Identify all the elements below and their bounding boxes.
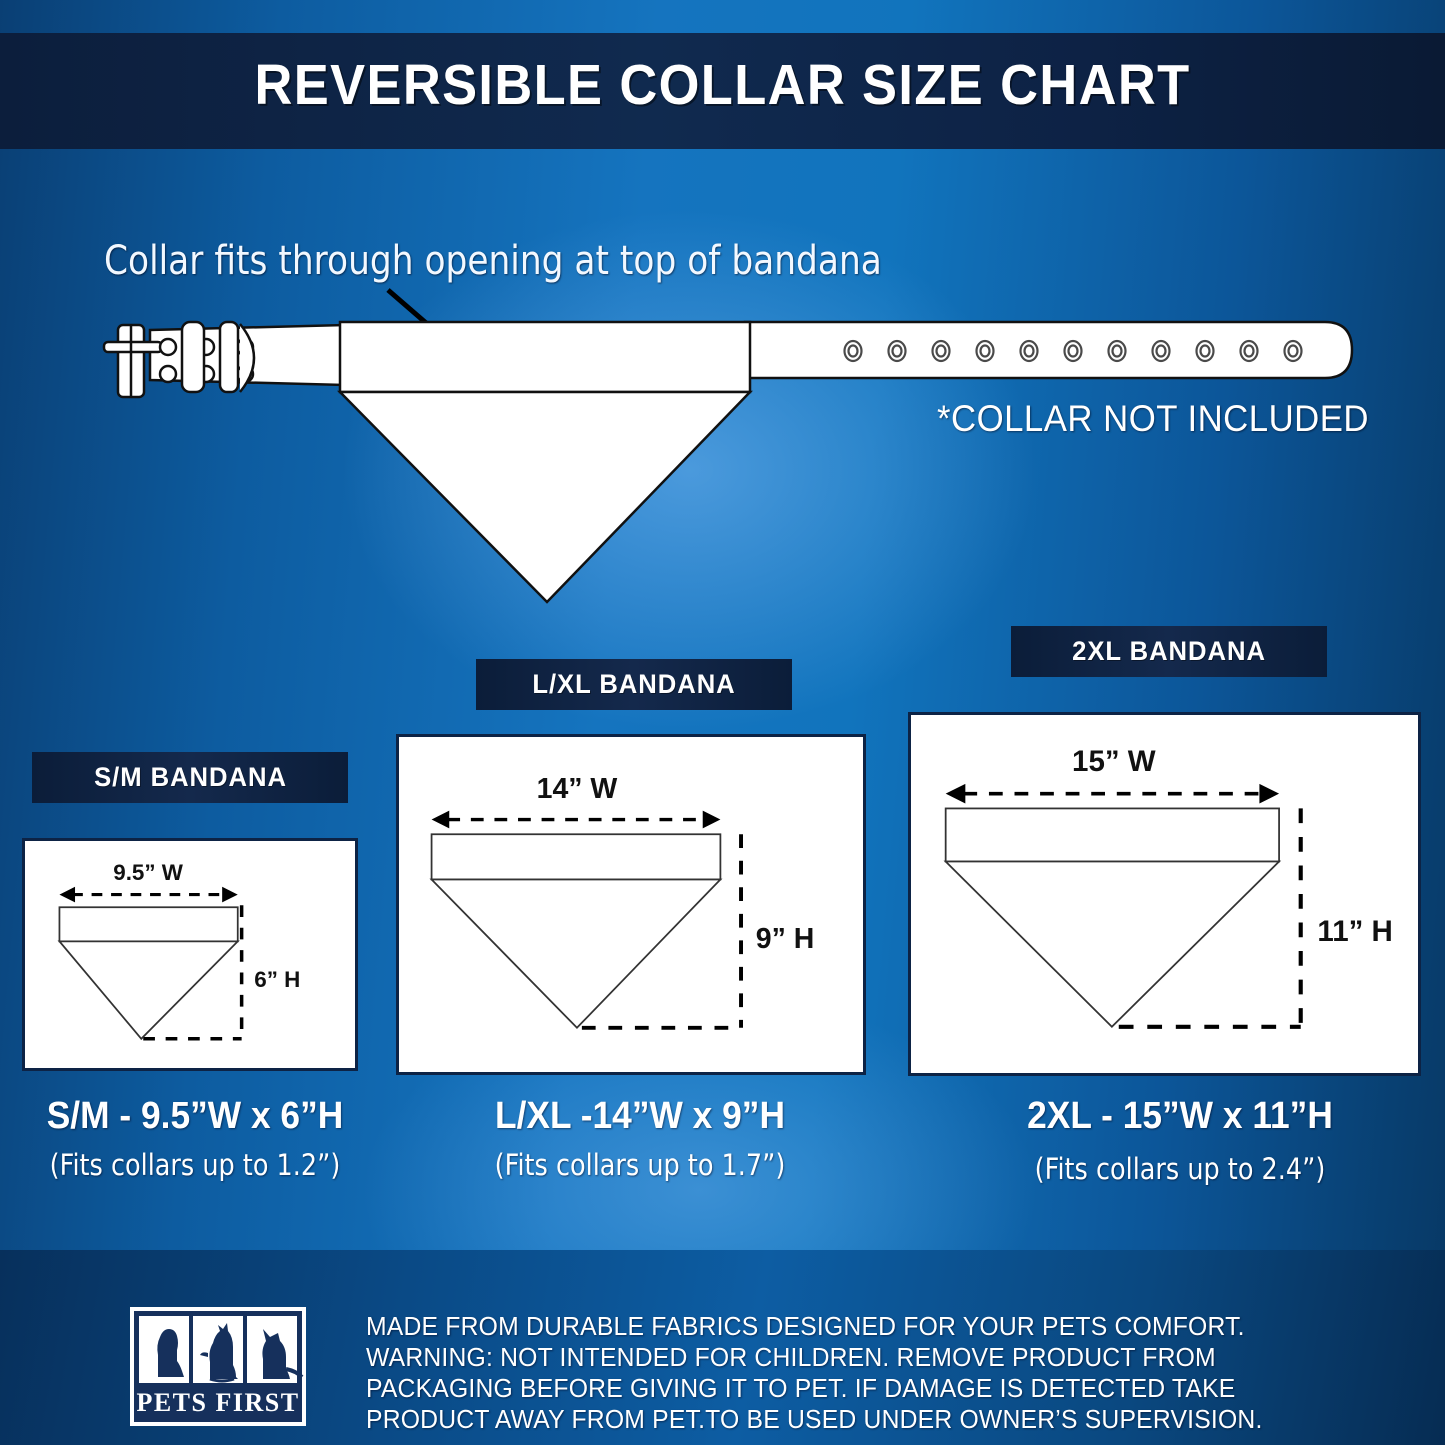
size-caption-sub-sm: (Fits collars up to 1.2”) — [23, 1148, 366, 1182]
size-diagram-panel-lxl: 14” W 9” H — [396, 734, 866, 1075]
triangle-lxl — [432, 879, 721, 1027]
height-label-2xl: 11” H — [1317, 915, 1392, 948]
triangle-2xl — [946, 862, 1279, 1027]
size-label-bar-sm: S/M BANDANA — [32, 752, 348, 803]
width-dimension-sm — [59, 887, 237, 903]
collar-strap-right — [745, 322, 1352, 378]
sleeve-2xl — [946, 808, 1279, 861]
size-diagram-panel-sm: 9.5” W 6” H — [22, 838, 358, 1071]
footer-line-1: MADE FROM DURABLE FABRICS DESIGNED FOR Y… — [366, 1312, 1326, 1343]
width-label-lxl: 14” W — [537, 773, 618, 805]
page-title: REVERSIBLE COLLAR SIZE CHART — [58, 52, 1387, 118]
footer-line-2: WARNING: NOT INTENDED FOR CHILDREN. REMO… — [366, 1343, 1326, 1374]
size-caption-title-2xl: 2XL - 15”W x 11”H — [975, 1095, 1384, 1138]
size-label-lxl: L/XL BANDANA — [532, 669, 735, 700]
footer-disclaimer: MADE FROM DURABLE FABRICS DESIGNED FOR Y… — [366, 1312, 1326, 1436]
height-label-lxl: 9” H — [756, 923, 815, 955]
sleeve-lxl — [432, 834, 721, 879]
size-label-2xl: 2XL BANDANA — [1072, 636, 1266, 667]
width-label-2xl: 15” W — [1072, 745, 1156, 778]
bandana-diagram-lxl: 14” W 9” H — [399, 737, 863, 1072]
bandana-sleeve — [340, 322, 750, 392]
footer-line-3: PACKAGING BEFORE GIVING IT TO PET. IF DA… — [366, 1374, 1326, 1405]
size-diagram-panel-2xl: 15” W 11” H — [908, 712, 1421, 1076]
collar-bandana-illustration — [0, 200, 1445, 630]
size-chart-page: REVERSIBLE COLLAR SIZE CHART Collar fits… — [0, 0, 1445, 1445]
pets-first-logo: PETS FIRST — [130, 1307, 306, 1426]
logo-brand-text: PETS FIRST — [136, 1388, 299, 1417]
triangle-sm — [59, 941, 237, 1038]
footer-line-4: PRODUCT AWAY FROM PET.TO BE USED UNDER O… — [366, 1405, 1326, 1436]
width-dimension-2xl — [946, 784, 1279, 804]
size-caption-title-lxl: L/XL -14”W x 9”H — [445, 1095, 836, 1138]
size-label-bar-2xl: 2XL BANDANA — [1011, 626, 1327, 677]
size-caption-sub-2xl: (Fits collars up to 2.4”) — [986, 1152, 1373, 1186]
size-caption-title-sm: S/M - 9.5”W x 6”H — [14, 1095, 377, 1138]
size-label-sm: S/M BANDANA — [94, 762, 287, 793]
bandana-triangle — [340, 392, 750, 602]
width-dimension-lxl — [432, 811, 721, 829]
sleeve-sm — [59, 907, 237, 941]
width-label-sm: 9.5” W — [113, 860, 184, 885]
bandana-diagram-sm: 9.5” W 6” H — [25, 841, 355, 1068]
height-label-sm: 6” H — [254, 967, 300, 992]
bandana-diagram-2xl: 15” W 11” H — [911, 715, 1418, 1073]
size-caption-sub-lxl: (Fits collars up to 1.7”) — [455, 1148, 825, 1182]
size-label-bar-lxl: L/XL BANDANA — [476, 659, 792, 710]
